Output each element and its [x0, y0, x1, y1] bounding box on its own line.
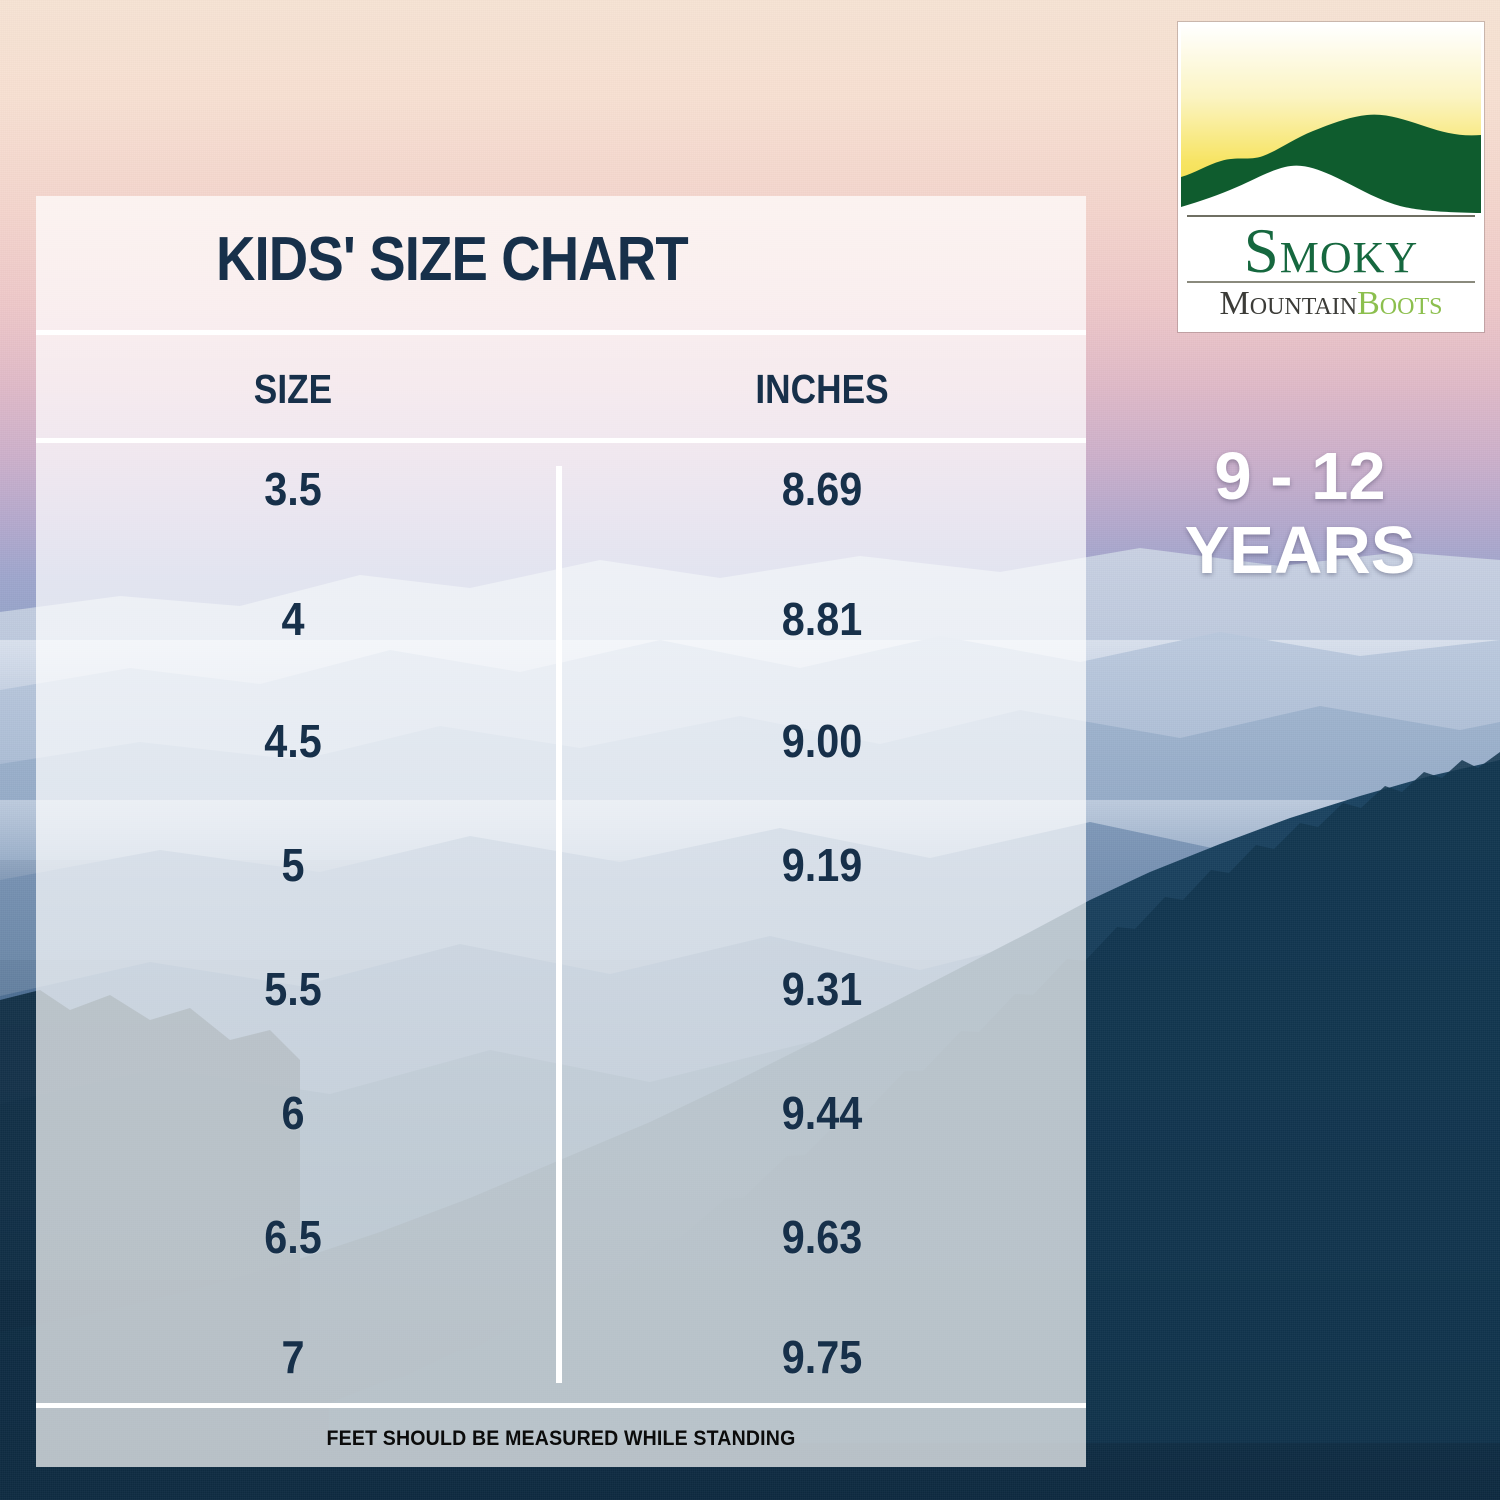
table-row: 8.69: [696, 462, 948, 516]
measurement-note: FEET SHOULD BE MEASURED WHILE STANDING: [73, 1427, 1050, 1451]
table-row: 3.5: [167, 462, 419, 516]
table-row: 9.63: [696, 1210, 948, 1264]
table-row: 5: [167, 838, 419, 892]
logo-wordmark-mountainboots: MountainBoots: [1181, 283, 1481, 325]
table-row: 9.31: [696, 962, 948, 1016]
size-chart-image: KIDS' SIZE CHART SIZE INCHES 3.5 8.69 4 …: [0, 0, 1500, 1500]
age-range-line2: YEARS: [1120, 514, 1480, 588]
logo-wordmark-smoky: Smoky: [1181, 217, 1481, 285]
logo-word-mountain: Mountain: [1220, 285, 1358, 322]
header-rule-bottom: [36, 438, 1086, 443]
footer-rule: [36, 1403, 1086, 1408]
table-row: 9.00: [696, 714, 948, 768]
brand-logo[interactable]: Smoky MountainBoots: [1178, 22, 1484, 332]
column-divider: [556, 466, 562, 1383]
header-rule-top: [36, 330, 1086, 335]
column-header-size: SIZE: [173, 366, 414, 413]
age-range-badge: 9 - 12 YEARS: [1120, 440, 1480, 588]
logo-word-boots: Boots: [1357, 285, 1442, 322]
page-title: KIDS' SIZE CHART: [216, 224, 832, 295]
table-row: 6: [167, 1086, 419, 1140]
table-row: 8.81: [696, 592, 948, 646]
table-row: 4.5: [167, 714, 419, 768]
table-row: 9.19: [696, 838, 948, 892]
table-row: 9.75: [696, 1330, 948, 1384]
age-range-line1: 9 - 12: [1214, 439, 1385, 514]
mountain-logo-icon: [1181, 25, 1481, 215]
table-row: 7: [167, 1330, 419, 1384]
table-row: 5.5: [167, 962, 419, 1016]
table-row: 9.44: [696, 1086, 948, 1140]
table-row: 6.5: [167, 1210, 419, 1264]
table-row: 4: [167, 592, 419, 646]
column-header-inches: INCHES: [702, 366, 943, 413]
